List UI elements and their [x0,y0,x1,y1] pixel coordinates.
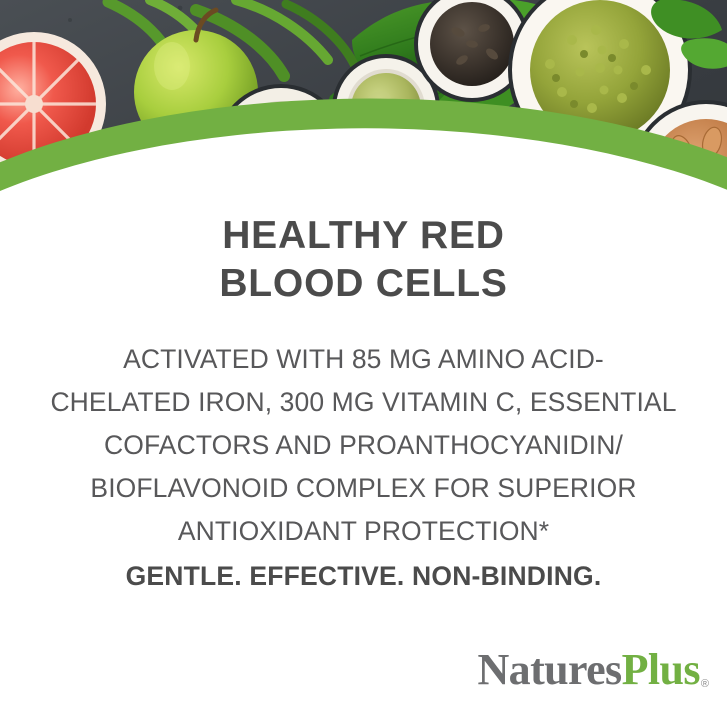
logo-text-plus: Plus [622,646,700,694]
page-title: HEALTHY RED BLOOD CELLS [0,212,727,308]
naturesplus-logo: NaturesPlus® [478,646,710,694]
registered-trademark-icon: ® [701,677,709,694]
logo-text-natures: Natures [478,646,622,694]
product-description: ACTIVATED WITH 85 MG AMINO ACID- CHELATE… [14,338,713,553]
product-banner: HEALTHY RED BLOOD CELLS ACTIVATED WITH 8… [0,0,727,706]
product-tagline: GENTLE. EFFECTIVE. NON-BINDING. [0,559,727,593]
